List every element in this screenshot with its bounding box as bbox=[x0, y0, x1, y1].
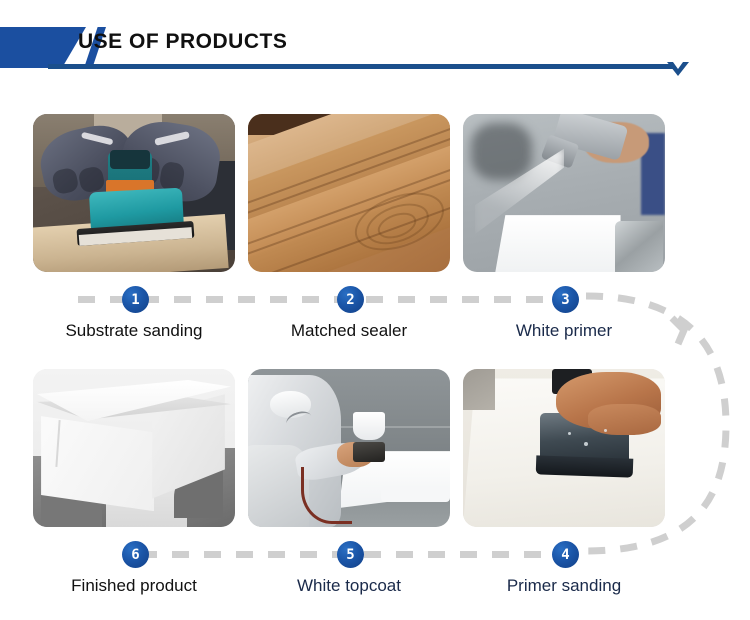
primer-sanding-photo[interactable] bbox=[463, 369, 665, 527]
step-badge-6[interactable]: 6 bbox=[122, 541, 149, 568]
matched-sealer-photo[interactable] bbox=[248, 114, 450, 272]
page-title: USE OF PRODUCTS bbox=[78, 30, 287, 54]
step-label-4: Primer sanding bbox=[463, 576, 665, 596]
step-badge-3[interactable]: 3 bbox=[552, 286, 579, 313]
header-accent-block bbox=[0, 27, 86, 68]
step-flow-curve bbox=[0, 0, 750, 620]
page-header: USE OF PRODUCTS bbox=[0, 0, 750, 92]
step-label-6: Finished product bbox=[33, 576, 235, 596]
step-label-2: Matched sealer bbox=[248, 321, 450, 341]
finished-product-photo[interactable] bbox=[33, 369, 235, 527]
step-badge-4[interactable]: 4 bbox=[552, 541, 579, 568]
step-badge-2[interactable]: 2 bbox=[337, 286, 364, 313]
arrow-down-icon bbox=[672, 318, 684, 344]
step-label-5: White topcoat bbox=[248, 576, 450, 596]
step-badge-5[interactable]: 5 bbox=[337, 541, 364, 568]
row1-dashed-connector bbox=[78, 296, 568, 303]
step-label-3: White primer bbox=[463, 321, 665, 341]
white-topcoat-photo[interactable] bbox=[248, 369, 450, 527]
step-label-1: Substrate sanding bbox=[33, 321, 235, 341]
chevron-down-icon bbox=[667, 61, 689, 77]
white-primer-photo[interactable] bbox=[463, 114, 665, 272]
substrate-sanding-photo[interactable] bbox=[33, 114, 235, 272]
header-rule-line bbox=[48, 64, 673, 69]
step-badge-1[interactable]: 1 bbox=[122, 286, 149, 313]
